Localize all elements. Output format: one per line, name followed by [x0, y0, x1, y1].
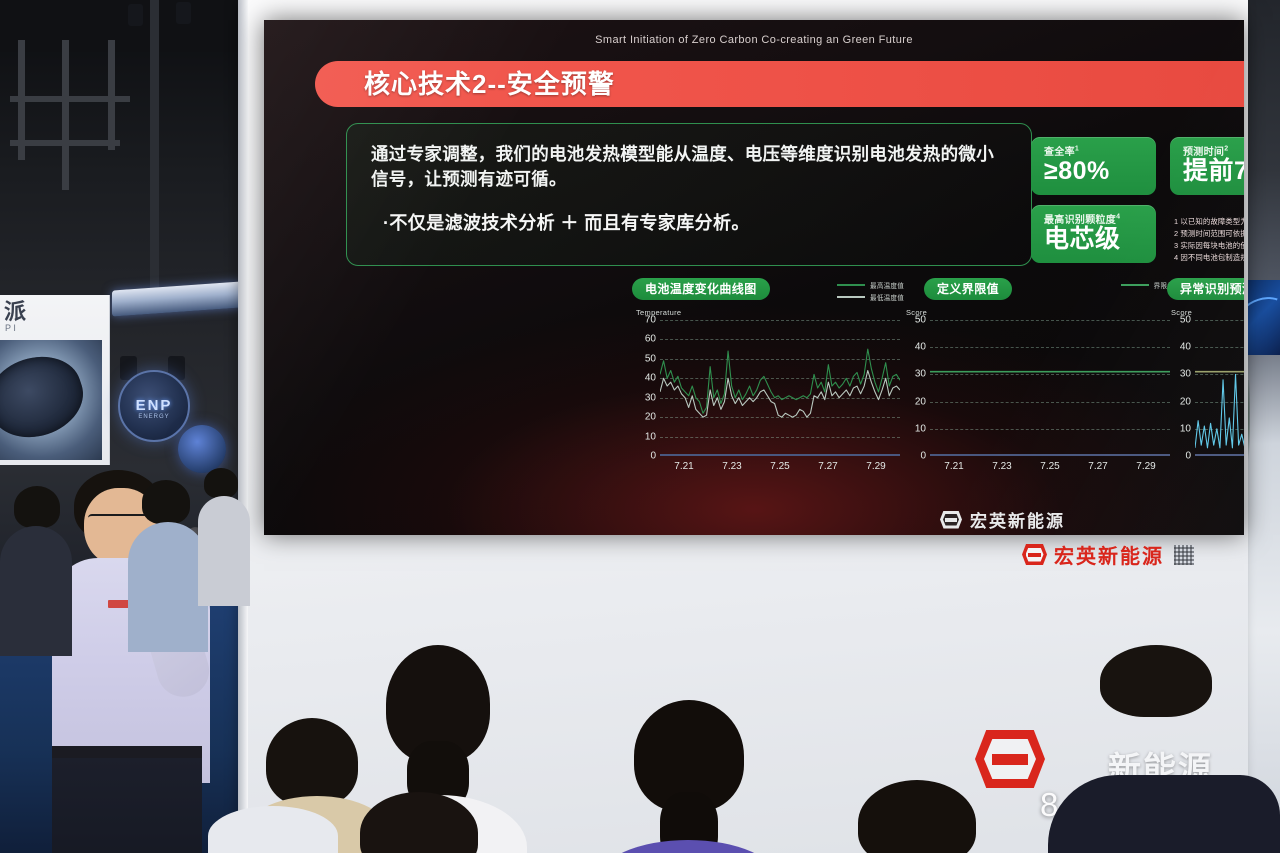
y-axis-tick: 30 — [634, 392, 656, 403]
y-axis-tick: 30 — [1169, 369, 1191, 380]
audience-member — [1048, 645, 1280, 853]
chart-anomaly-prediction: 异常识别预测图 界限值 Score 01020304050 — [1167, 278, 1244, 478]
chart-title: 电池温度变化曲线图 — [632, 278, 770, 300]
qr-code-icon — [1174, 545, 1194, 565]
chart-battery-temperature: 电池温度变化曲线图 最高温度值 最低温度值 Temperature 010203… — [632, 278, 904, 478]
plot-area: 01020304050 — [1195, 320, 1244, 456]
hongying-hex-icon — [940, 511, 962, 529]
x-axis-tick: 7.25 — [1040, 461, 1059, 472]
kpi-footnote-ref: 2 — [1224, 146, 1228, 153]
legend-label: 最高温度值 — [870, 280, 904, 290]
y-axis-tick: 0 — [1169, 451, 1191, 462]
legend-swatch — [1121, 284, 1149, 286]
legend-label: 最低温度值 — [870, 292, 904, 302]
slide-title: 核心技术2--安全预警 — [315, 61, 1244, 107]
wall-brand-name: 宏英新能源 — [1054, 540, 1164, 569]
x-axis-tick: 7.27 — [818, 461, 837, 472]
series-layer — [1195, 320, 1244, 456]
background-attendee — [198, 468, 250, 598]
slide-footnotes: 1 以已知的故障类型为基础，实际因场景和电池材料不同有区别 。 2 预测时间范围… — [1174, 216, 1244, 264]
y-axis-tick: 0 — [634, 451, 656, 462]
legend-swatch — [837, 296, 865, 298]
y-axis-tick: 0 — [904, 451, 926, 462]
x-axis-tick: 7.23 — [722, 461, 741, 472]
kpi-value: ≥80% — [1044, 158, 1144, 184]
kpi-card-granularity: 最高识别颗粒度4 电芯级 — [1031, 205, 1156, 263]
x-axis-tick: 7.29 — [866, 461, 885, 472]
ceiling-truss — [0, 0, 270, 290]
series-layer — [660, 320, 900, 456]
y-axis-tick: 10 — [634, 431, 656, 442]
plot-area: 010203040507.217.237.257.277.29 — [930, 320, 1170, 456]
kpi-value: 提前7天 — [1183, 158, 1244, 184]
hongying-hex-icon — [1022, 544, 1047, 565]
wall-brand-logo: 宏英新能源 — [1022, 540, 1194, 569]
chart-threshold-definition: 定义界限值 界限值 Score 010203040507.217.237.257… — [902, 278, 1174, 478]
x-axis-tick: 7.21 — [944, 461, 963, 472]
y-axis-tick: 10 — [1169, 423, 1191, 434]
y-axis-tick: 20 — [1169, 396, 1191, 407]
slide-body-card: 通过专家调整，我们的电池发热模型能从温度、电压等维度识别电池发热的微小信号，让预… — [346, 123, 1032, 266]
plot-area: 0102030405060707.217.237.257.277.29 — [660, 320, 900, 456]
slide-title-band: 核心技术2--安全预警 — [315, 61, 1244, 107]
y-axis-tick: 50 — [1169, 315, 1191, 326]
x-axis-tick: 7.25 — [770, 461, 789, 472]
chart-title: 定义界限值 — [924, 278, 1012, 300]
y-axis-tick: 20 — [904, 396, 926, 407]
y-axis-tick: 50 — [634, 353, 656, 364]
data-series-line — [660, 371, 900, 418]
data-series-line — [660, 349, 900, 413]
footnote-3: 3 实际因每块电池的使用场景不同而有差异。 — [1174, 240, 1244, 252]
y-axis-tick: 40 — [1169, 342, 1191, 353]
chart-legend: 界限值 — [1121, 280, 1174, 292]
presentation-slide: Smart Initiation of Zero Carbon Co-creat… — [264, 20, 1244, 535]
y-axis-tick: 40 — [634, 373, 656, 384]
x-axis-tick: 7.27 — [1088, 461, 1107, 472]
background-attendee — [0, 486, 70, 646]
body-bullet: ·不仅是滤波技术分析 ＋ 而且有专家库分析。 — [371, 209, 1009, 235]
chart-title: 异常识别预测图 — [1167, 278, 1244, 300]
footnote-2: 2 预测时间范围可依据需求调整，以实际结果为准。 — [1174, 228, 1244, 240]
legend-swatch — [837, 284, 865, 286]
body-paragraph: 通过专家调整，我们的电池发热模型能从温度、电压等维度识别电池发热的微小信号，让预… — [371, 142, 1009, 193]
chart-legend: 最高温度值 最低温度值 — [837, 280, 904, 304]
background-attendee — [128, 480, 208, 640]
kpi-footnote-ref: 4 — [1116, 214, 1120, 221]
booth-decor-orb — [178, 425, 226, 473]
y-axis-tick: 20 — [634, 412, 656, 423]
photo-scene: 派 P I ENP ENERGY Smart Initiation of Zer… — [0, 0, 1280, 853]
data-series-line — [1195, 325, 1244, 447]
kpi-card-recall: 查全率1 ≥80% — [1031, 137, 1156, 195]
kpi-value: 电芯级 — [1044, 226, 1144, 252]
footnote-4: 4 因不同电池包制造规格和数据质量而有不同。 — [1174, 252, 1244, 264]
y-axis-tick: 40 — [904, 342, 926, 353]
audience-member — [832, 780, 1002, 853]
y-axis-tick: 10 — [904, 423, 926, 434]
x-axis-tick: 7.21 — [674, 461, 693, 472]
enp-booth-logo: ENP ENERGY — [118, 370, 190, 442]
y-axis-tick: 30 — [904, 369, 926, 380]
x-axis-tick: 7.29 — [1136, 461, 1155, 472]
slide-english-subtitle: Smart Initiation of Zero Carbon Co-creat… — [264, 34, 1244, 46]
slide-footer-brand: 宏英新能源 — [970, 507, 1065, 532]
kpi-card-lead-time: 预测时间2 提前7天 — [1170, 137, 1244, 195]
footnote-1: 1 以已知的故障类型为基础，实际因场景和电池材料不同有区别 。 — [1174, 216, 1244, 228]
y-axis-tick: 70 — [634, 315, 656, 326]
kpi-footnote-ref: 1 — [1075, 146, 1079, 153]
y-axis-tick: 60 — [634, 334, 656, 345]
x-axis-tick: 7.23 — [992, 461, 1011, 472]
audience-member — [208, 806, 338, 853]
audience-member — [598, 700, 778, 853]
audience-member — [330, 792, 510, 853]
neighbor-booth-screen — [0, 340, 102, 460]
y-axis-tick: 50 — [904, 315, 926, 326]
series-layer — [930, 320, 1170, 456]
slide-footer-logo: 宏英新能源 — [940, 507, 1065, 532]
